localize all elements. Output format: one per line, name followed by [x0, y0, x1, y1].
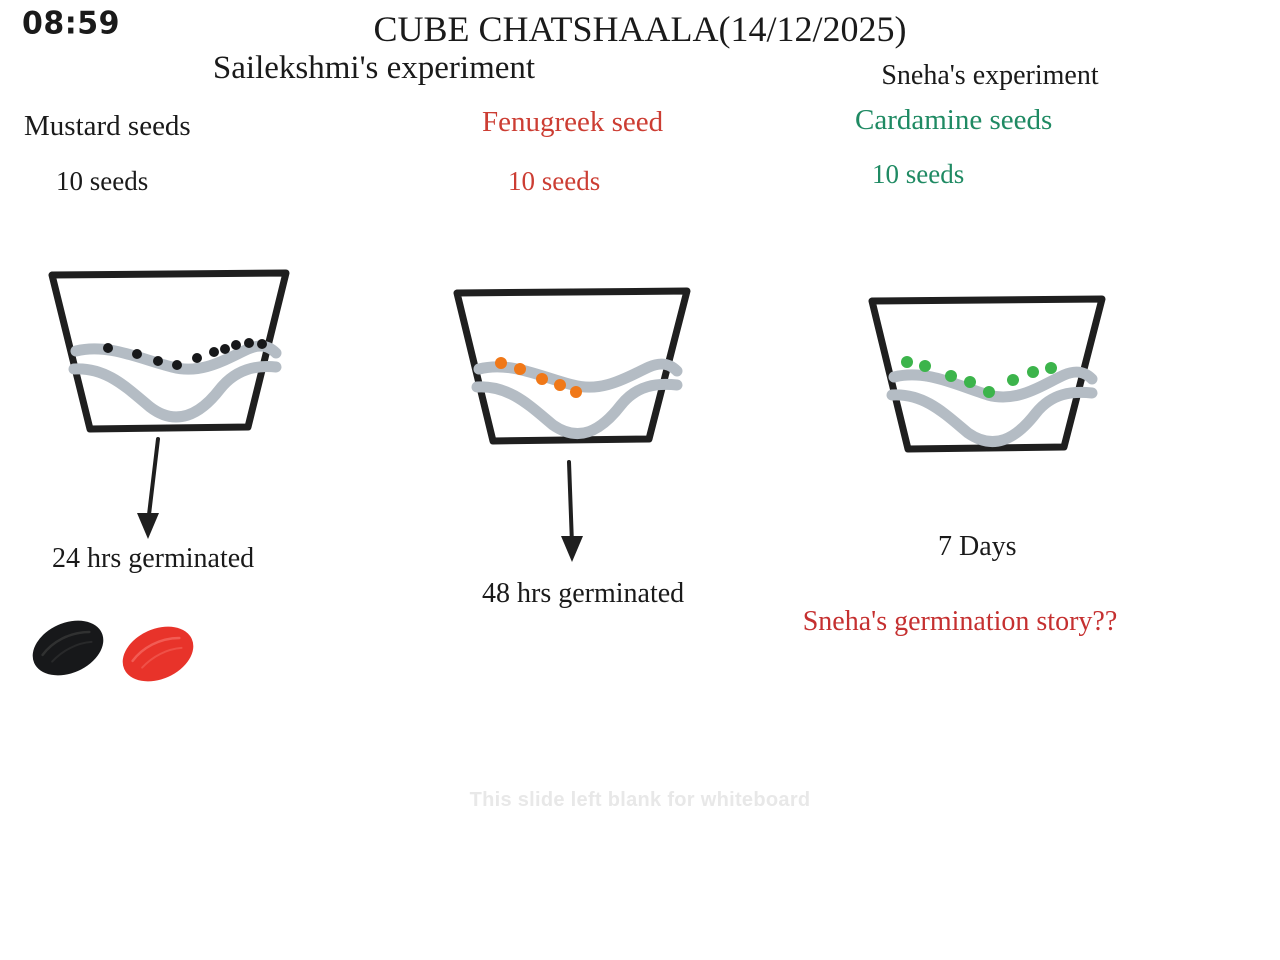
mustard-seed-label: Mustard seeds	[24, 110, 191, 143]
cardamine-bowl-illustration	[850, 285, 1130, 475]
fenugreek-arrow	[545, 458, 615, 573]
black-germinated-seed	[24, 610, 112, 686]
mustard-result-label: 24 hrs germinated	[52, 543, 254, 575]
cardamine-seed-count: 10 seeds	[872, 159, 964, 190]
page-title: CUBE CHATSHAALA(14/12/2025)	[0, 8, 1280, 50]
right-experiment-title: Sneha's experiment	[700, 60, 1280, 92]
cardamine-seed-label: Cardamine seeds	[855, 104, 1052, 137]
sneha-germination-question: Sneha's germination story??	[790, 601, 1130, 643]
fenugreek-seed-label: Fenugreek seed	[482, 106, 663, 139]
fenugreek-result-label: 48 hrs germinated	[482, 578, 684, 610]
red-germinated-seed	[114, 616, 202, 692]
germinated-seeds-illustration	[18, 600, 208, 700]
mustard-seed-count: 10 seeds	[56, 166, 148, 197]
mustard-arrow	[130, 435, 200, 550]
fenugreek-seed-count: 10 seeds	[508, 166, 600, 197]
whiteboard-placeholder-note: This slide left blank for whiteboard	[0, 789, 1280, 812]
slide-canvas: 08:59 CUBE CHATSHAALA(14/12/2025) Sailek…	[0, 0, 1280, 960]
cardamine-result-label: 7 Days	[938, 531, 1017, 563]
fenugreek-bowl-illustration	[435, 275, 715, 465]
left-experiment-title: Sailekshmi's experiment	[0, 50, 748, 87]
water-line-lower	[74, 367, 276, 417]
mustard-bowl-illustration	[30, 255, 320, 455]
